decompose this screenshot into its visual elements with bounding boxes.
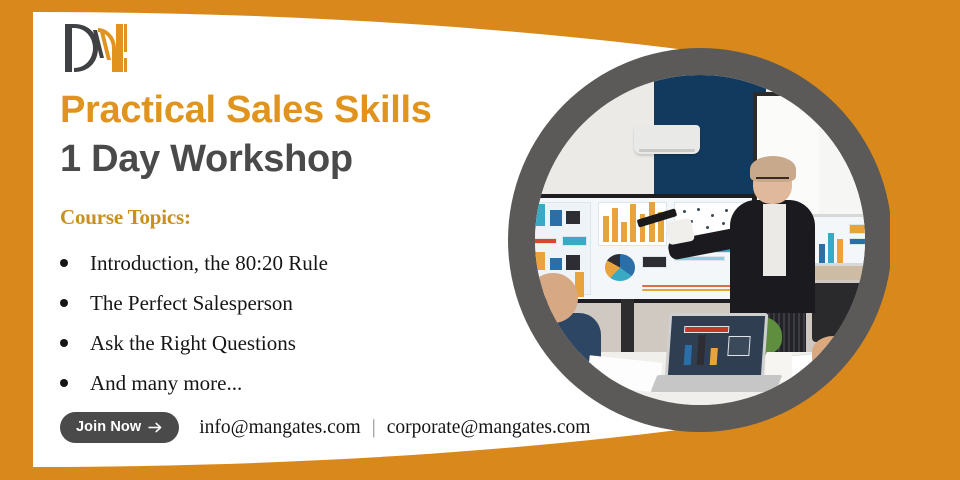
bullet-icon — [60, 379, 68, 387]
poster-canvas: Practical Sales Skills 1 Day Workshop Co… — [0, 0, 960, 480]
scene-presenter-glasses — [756, 177, 789, 186]
scene-back-monitor — [809, 214, 865, 267]
email-primary[interactable]: info@mangates.com — [199, 417, 360, 439]
join-now-label: Join Now — [76, 419, 141, 435]
training-session-photo — [535, 75, 865, 405]
scene-office-chair — [812, 283, 865, 342]
list-item: The Perfect Salesperson — [60, 283, 328, 323]
contact-separator: | — [372, 416, 376, 439]
page-title-secondary: 1 Day Workshop — [60, 137, 530, 182]
bullet-icon — [60, 259, 68, 267]
scene-air-conditioner — [634, 125, 700, 155]
list-item: And many more... — [60, 363, 328, 403]
list-item-label: And many more... — [90, 371, 242, 396]
bullet-icon — [60, 299, 68, 307]
photo-clip-region — [508, 0, 890, 480]
bullet-icon — [60, 339, 68, 347]
photo-scene — [535, 75, 865, 405]
join-now-button[interactable]: Join Now — [60, 412, 179, 443]
photo-ring-border — [508, 48, 890, 432]
scene-attendee-right-hand — [812, 336, 865, 376]
list-item-label: Ask the Right Questions — [90, 331, 296, 356]
course-topics-heading: Course Topics: — [60, 205, 191, 230]
arrow-right-icon — [148, 421, 163, 434]
scene-window-secondary — [819, 101, 865, 213]
list-item-label: The Perfect Salesperson — [90, 291, 293, 316]
list-item: Introduction, the 80:20 Rule — [60, 243, 328, 283]
scene-laptop-base — [650, 375, 782, 392]
course-topics-list: Introduction, the 80:20 Rule The Perfect… — [60, 243, 328, 403]
page-title-primary: Practical Sales Skills — [60, 88, 530, 133]
scene-presenter-shirt — [763, 204, 786, 277]
mangates-book-m-logo — [60, 18, 134, 78]
scene-laptop-screen — [665, 313, 769, 379]
list-item: Ask the Right Questions — [60, 323, 328, 363]
list-item-label: Introduction, the 80:20 Rule — [90, 251, 328, 276]
headline-block: Practical Sales Skills 1 Day Workshop — [60, 88, 530, 182]
